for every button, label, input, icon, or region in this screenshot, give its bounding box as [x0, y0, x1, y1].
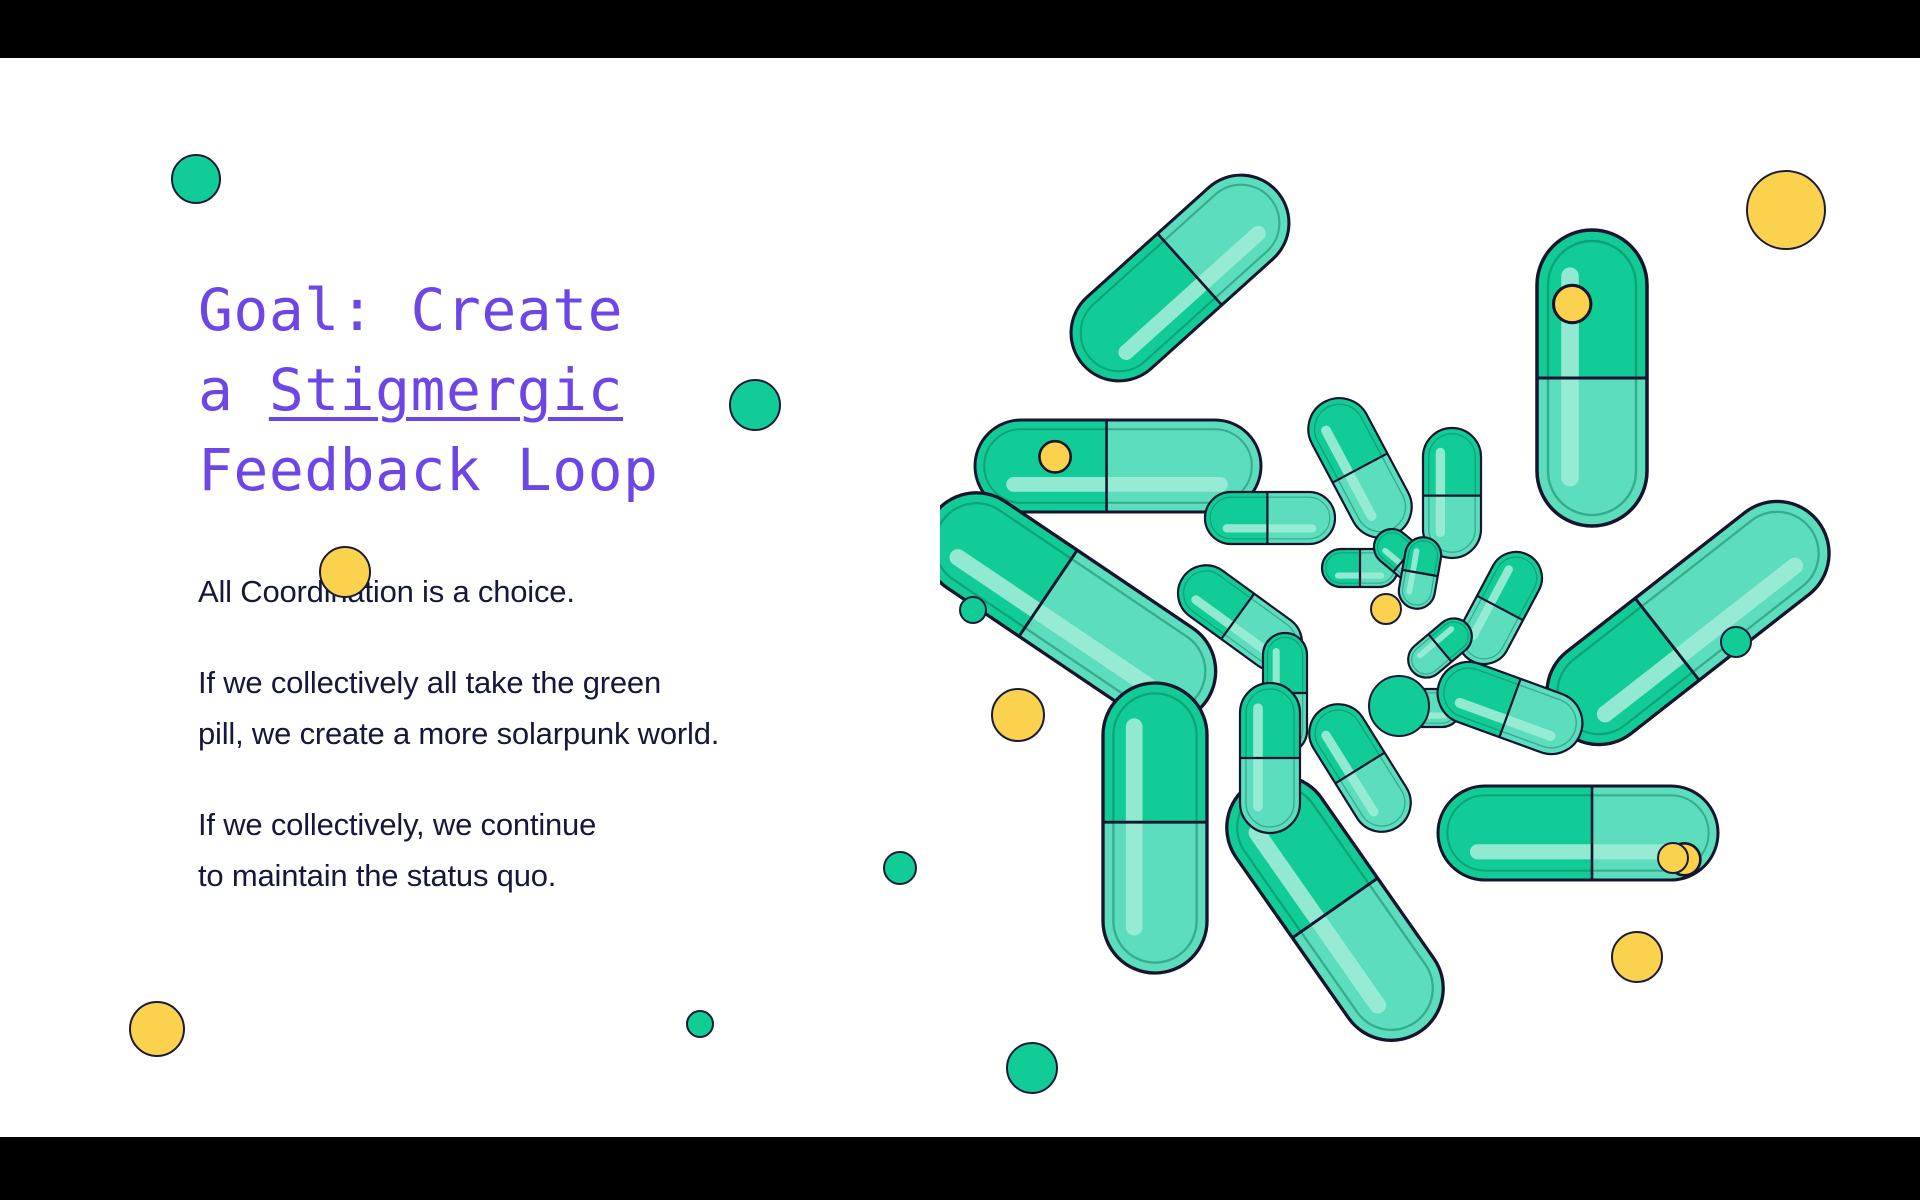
dot-yellow-right-low [1657, 842, 1689, 874]
pill-half-dark [1423, 428, 1481, 496]
pill-highlight-stripe [1223, 524, 1317, 532]
dot-yellow-over-text [319, 546, 371, 598]
page-title: Goal: Createa StigmergicFeedback Loop [198, 270, 918, 510]
pill-half-dark [1240, 683, 1300, 758]
pill-half-light [1103, 822, 1207, 973]
pill-half-light [1537, 378, 1647, 526]
headline-line-1: Goal: Create [198, 276, 623, 344]
headline-keyword-stigmergic: Stigmergic [269, 356, 623, 424]
pill-capsule [1240, 683, 1300, 833]
slide-canvas: Goal: Createa StigmergicFeedback Loop Al… [0, 58, 1920, 1137]
pill-half-light [1267, 492, 1335, 544]
pill-highlight-stripe [1126, 718, 1143, 935]
dot-yellow-top-right [1746, 170, 1826, 250]
headline-line-3: Feedback Loop [198, 436, 658, 504]
dot-green-mid-left [729, 379, 781, 431]
dot-green-lower-left [883, 851, 917, 885]
pill-yellow-dot [1554, 285, 1591, 322]
pill-highlight-stripe [1470, 844, 1684, 859]
pill-capsule [1051, 155, 1308, 400]
dot-green-right-cluster [1720, 626, 1752, 658]
dot-green-cluster-core [1368, 675, 1430, 737]
dot-yellow-left-cluster [991, 688, 1045, 742]
dot-yellow-bottom-left [129, 1001, 185, 1057]
pill-half-light [1240, 758, 1300, 833]
pill-capsule [1205, 492, 1335, 544]
letterbox-top [0, 0, 1920, 58]
pill-highlight-stripe [1006, 477, 1228, 492]
pill-half-dark [1438, 786, 1592, 880]
body-paragraph-3: If we collectively, we continue to maint… [198, 799, 918, 901]
pill-half-dark [1205, 492, 1267, 544]
dot-green-bottom-mid [1006, 1042, 1058, 1094]
letterbox-bottom [0, 1137, 1920, 1200]
dot-green-top-left [171, 154, 221, 204]
body-paragraph-1: All Coordination is a choice. [198, 566, 918, 617]
dot-green-bottom-small [686, 1010, 714, 1038]
slide-root: Goal: Createa StigmergicFeedback Loop Al… [0, 0, 1920, 1200]
dot-green-left-cluster [959, 596, 987, 624]
dot-yellow-bottom-right [1611, 931, 1663, 983]
pill-capsule [1103, 683, 1207, 973]
dot-yellow-cluster-mid [1370, 593, 1402, 625]
pill-half-dark [1103, 683, 1207, 822]
pill-capsule [1449, 543, 1551, 673]
text-column: Goal: Createa StigmergicFeedback Loop Al… [198, 270, 918, 901]
pill-yellow-dot [1039, 441, 1070, 472]
pill-highlight-stripe [1436, 448, 1445, 537]
body-text-block: All Coordination is a choice. If we coll… [198, 566, 918, 901]
pill-capsule [1537, 230, 1647, 526]
body-paragraph-2: If we collectively all take the green pi… [198, 657, 918, 759]
headline-line-2-prefix: a [198, 356, 269, 424]
